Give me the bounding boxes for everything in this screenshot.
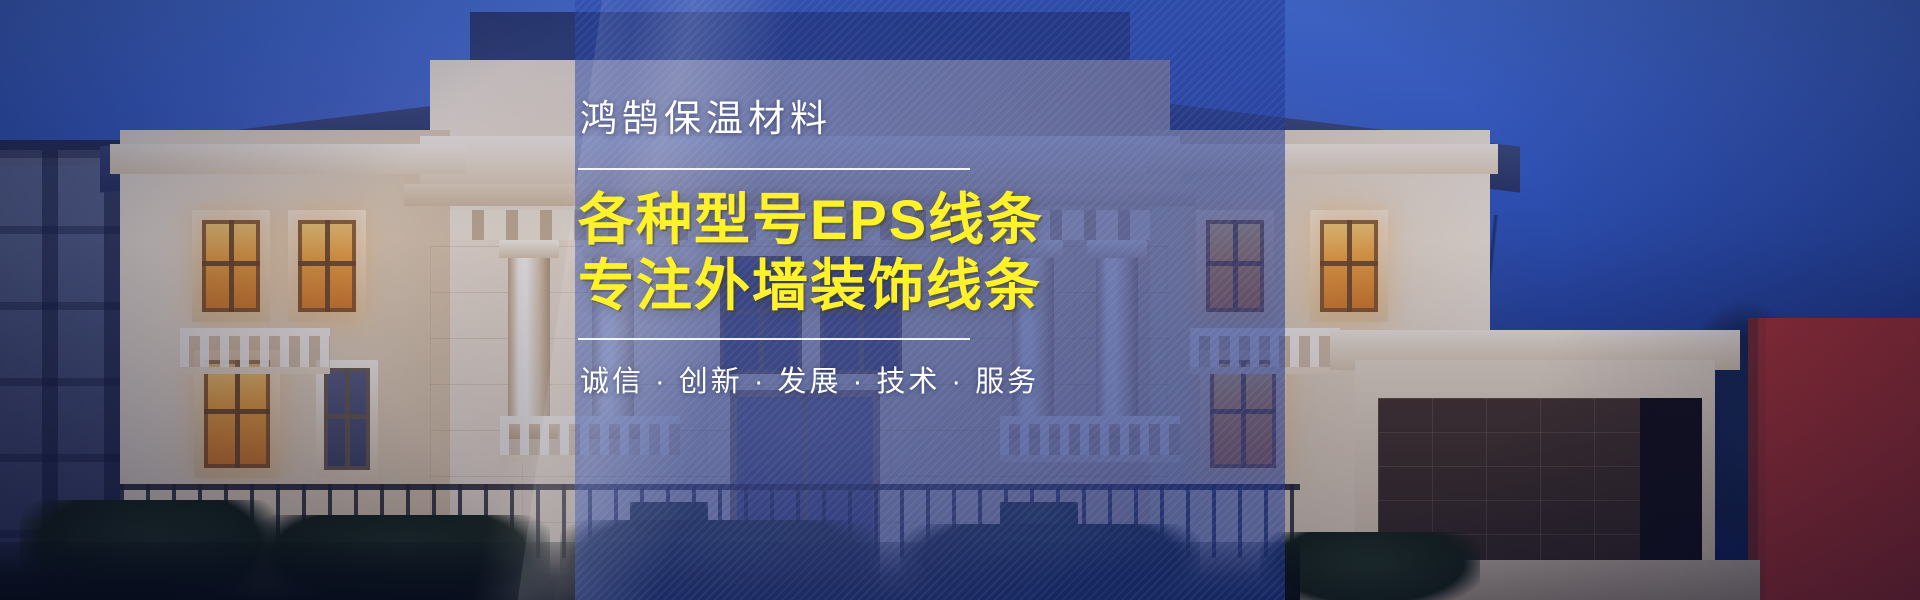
tagline: 诚信 · 创新 · 发展 · 技术 · 服务	[580, 358, 1278, 400]
headline-line-1: 各种型号EPS线条	[578, 190, 1278, 250]
brand-name: 鸿鹄保温材料	[580, 96, 1278, 142]
promo-banner: 鸿鹄保温材料 各种型号EPS线条 专注外墙装饰线条 诚信 · 创新 · 发展 ·…	[0, 0, 1920, 600]
divider-top	[578, 168, 970, 170]
headline-line-2: 专注外墙装饰线条	[578, 256, 1278, 316]
divider-bottom	[578, 338, 970, 340]
headline: 各种型号EPS线条 专注外墙装饰线条	[578, 190, 1278, 316]
banner-copy: 鸿鹄保温材料 各种型号EPS线条 专注外墙装饰线条 诚信 · 创新 · 发展 ·…	[578, 96, 1278, 400]
